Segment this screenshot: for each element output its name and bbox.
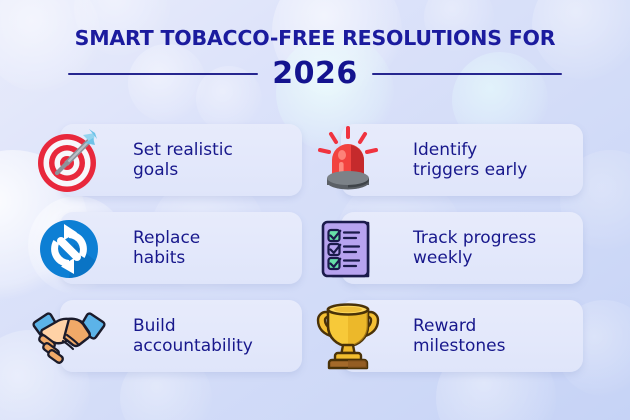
tip-card-reward-milestones[interactable]: Reward milestones — [341, 300, 583, 372]
tip-card-label: Track progress weekly — [413, 228, 536, 268]
tip-card-label: Set realistic goals — [133, 140, 233, 180]
tip-card-label: Reward milestones — [413, 316, 505, 356]
poster-header: SMART TOBACCO-FREE RESOLUTIONS FOR 2026 — [0, 28, 630, 89]
tip-card-label: Build accountability — [133, 316, 253, 356]
tip-card-set-realistic-goals[interactable]: Set realistic goals — [60, 124, 302, 196]
divider-left — [68, 73, 258, 75]
tip-card-replace-habits[interactable]: Replace habits — [60, 212, 302, 284]
year-row: 2026 — [0, 59, 630, 89]
tip-card-identify-triggers-early[interactable]: Identify triggers early — [341, 124, 583, 196]
tip-card-label: Replace habits — [133, 228, 200, 268]
tip-card-track-progress-weekly[interactable]: Track progress weekly — [341, 212, 583, 284]
divider-right — [372, 73, 562, 75]
page-title-year: 2026 — [272, 59, 358, 89]
page-title: SMART TOBACCO-FREE RESOLUTIONS FOR — [0, 28, 630, 49]
poster-canvas: SMART TOBACCO-FREE RESOLUTIONS FOR 2026 … — [0, 0, 630, 420]
tip-card-build-accountability[interactable]: Build accountability — [60, 300, 302, 372]
tip-card-label: Identify triggers early — [413, 140, 527, 180]
